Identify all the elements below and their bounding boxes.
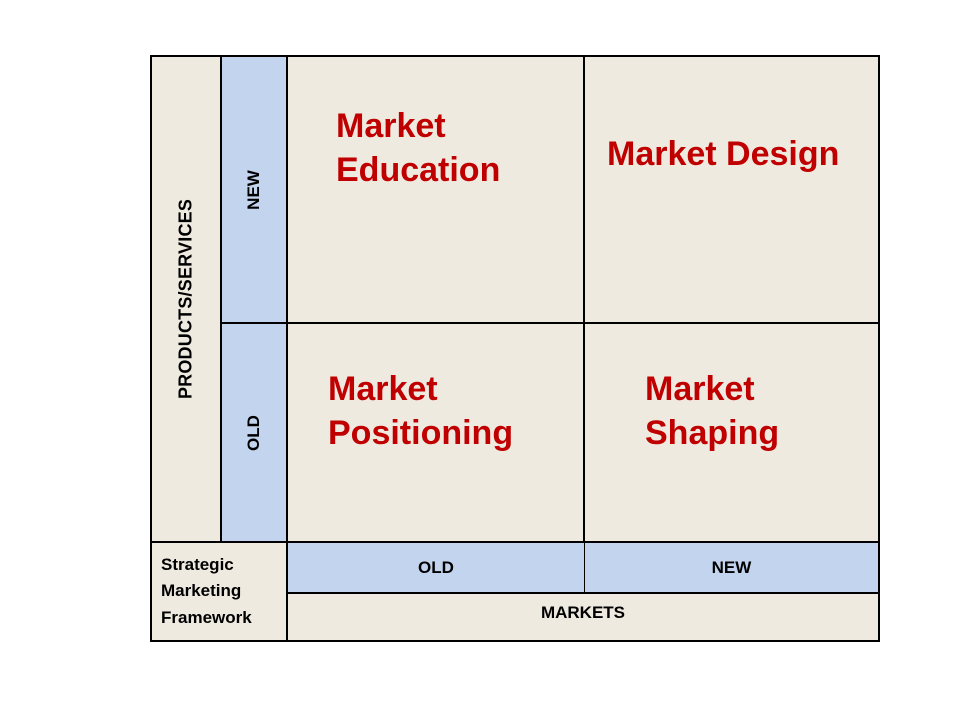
quadrant-grid: Market Education Market Design Market Po…	[288, 57, 878, 541]
quadrant-market-shaping[interactable]: Market Shaping	[585, 324, 878, 541]
framework-title-line-2: Marketing	[161, 578, 286, 604]
horizontal-axis-label-row: MARKETS	[288, 594, 878, 640]
framework-title-line-1: Strategic	[161, 552, 286, 578]
quadrant-market-shaping-label: Market Shaping	[645, 368, 779, 455]
vertical-axis-category-old-label: OLD	[244, 415, 264, 451]
strategic-marketing-framework-matrix: PRODUCTS/SERVICES NEW OLD Market Educati…	[150, 55, 880, 642]
vertical-axis-category-column: NEW OLD	[222, 57, 288, 541]
bottom-axis-band: Strategic Marketing Framework OLD NEW MA…	[152, 541, 878, 640]
framework-title-cell: Strategic Marketing Framework	[152, 543, 288, 640]
quadrant-market-positioning[interactable]: Market Positioning	[288, 324, 585, 541]
quadrant-market-positioning-label: Market Positioning	[328, 368, 513, 455]
vertical-axis-category-old: OLD	[222, 324, 286, 541]
vertical-axis-label: PRODUCTS/SERVICES	[176, 199, 197, 399]
quadrant-market-education[interactable]: Market Education	[288, 57, 585, 324]
quadrant-market-education-label: Market Education	[336, 105, 500, 192]
quadrant-market-design-label: Market Design	[607, 133, 839, 177]
vertical-axis-category-new: NEW	[222, 57, 286, 324]
horizontal-axis-category-old: OLD	[288, 543, 585, 592]
horizontal-axis-label: MARKETS	[541, 603, 625, 623]
horizontal-axis-category-new: NEW	[585, 543, 878, 592]
horizontal-axis-category-row: OLD NEW	[288, 543, 878, 594]
vertical-axis-category-new-label: NEW	[244, 170, 264, 210]
vertical-axis-label-column: PRODUCTS/SERVICES	[152, 57, 222, 541]
quadrant-market-design[interactable]: Market Design	[585, 57, 878, 324]
framework-title-line-3: Framework	[161, 605, 286, 631]
